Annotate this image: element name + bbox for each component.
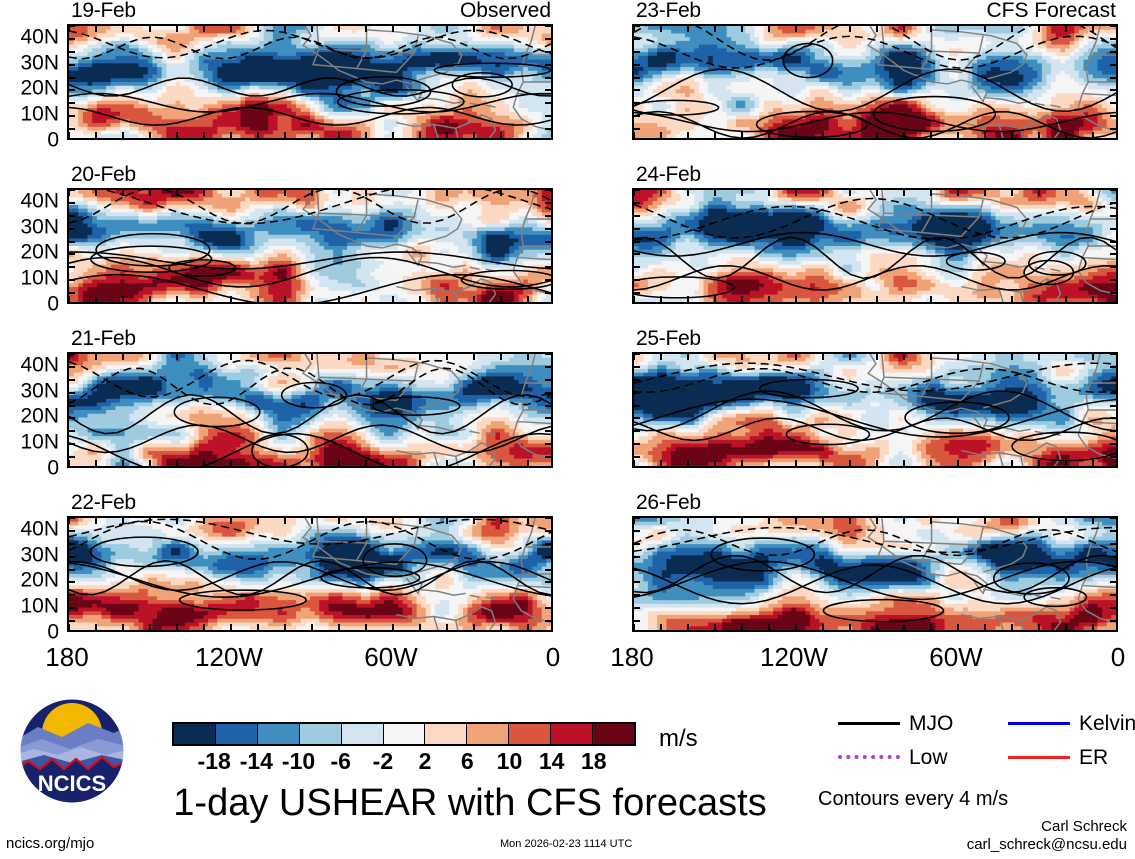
x-tick-mark [500, 26, 502, 32]
y-tick-mark [69, 64, 75, 66]
x-tick-mark [957, 354, 959, 360]
x-tick-mark [741, 132, 743, 138]
y-tick-mark [634, 266, 640, 268]
y-tick-mark [1110, 530, 1116, 532]
map-panel-19-feb: 19-FebObserved40N30N20N10N0 [67, 24, 553, 140]
colorbar-segment-9 [551, 724, 593, 744]
x-tick-mark [365, 460, 367, 466]
x-tick-mark [687, 296, 689, 302]
x-tick-mark [419, 132, 421, 138]
ushear-shading [69, 190, 551, 302]
x-tick-mark [257, 460, 259, 466]
y-tick-20n: 20N [20, 242, 59, 263]
x-tick-mark [984, 518, 986, 524]
x-tick-mark [849, 624, 851, 630]
x-tick-mark [446, 354, 448, 360]
y-tick-mark [545, 189, 551, 191]
colorbar-segment-3 [300, 724, 342, 744]
y-tick-mark [69, 102, 75, 104]
x-tick-0: 0 [1111, 642, 1125, 672]
x-tick-mark [984, 624, 986, 630]
y-tick-mark [545, 202, 551, 204]
x-tick-mark [1011, 26, 1013, 32]
x-tick-mark [392, 132, 394, 138]
x-tick-mark [338, 190, 340, 196]
y-tick-mark [634, 241, 640, 243]
x-tick-mark [1038, 190, 1040, 196]
x-tick-mark [984, 296, 986, 302]
legend-line-swatch [838, 722, 900, 725]
panel-date-label: 22-Feb [71, 492, 136, 513]
x-tick-mark [660, 190, 662, 196]
x-tick-mark [1038, 354, 1040, 360]
legend-label: ER [1079, 747, 1108, 768]
x-tick-mark [446, 624, 448, 630]
x-tick-mark [338, 132, 340, 138]
y-tick-mark [69, 417, 75, 419]
y-tick-mark [634, 569, 640, 571]
y-tick-mark [69, 77, 75, 79]
x-tick-mark [741, 354, 743, 360]
ushear-shading [634, 518, 1116, 630]
y-tick-mark [545, 581, 551, 583]
x-tick-mark [230, 26, 232, 32]
x-tick-mark [957, 460, 959, 466]
x-tick-mark [446, 190, 448, 196]
y-tick-mark [69, 228, 75, 230]
x-tick-mark [176, 354, 178, 360]
y-axis-labels: 40N30N20N10N0 [1, 516, 67, 632]
y-tick-mark [69, 25, 75, 27]
y-tick-mark [69, 241, 75, 243]
y-tick-40n: 40N [20, 26, 59, 47]
x-tick-mark [822, 518, 824, 524]
x-tick-mark [957, 296, 959, 302]
x-tick-mark [903, 624, 905, 630]
y-tick-mark [545, 607, 551, 609]
x-tick-mark [903, 460, 905, 466]
x-tick-mark [1092, 624, 1094, 630]
x-tick-mark [660, 296, 662, 302]
y-tick-mark [634, 517, 640, 519]
x-tick-mark [660, 518, 662, 524]
x-tick-mark [95, 460, 97, 466]
x-tick-mark [1092, 460, 1094, 466]
x-tick-mark [687, 624, 689, 630]
y-tick-mark [1110, 102, 1116, 104]
x-tick-mark [930, 190, 932, 196]
y-tick-mark [634, 543, 640, 545]
ncics-logo: NCICS [18, 697, 126, 805]
x-tick-mark [95, 132, 97, 138]
y-tick-mark [545, 430, 551, 432]
shaded-field-map [632, 24, 1118, 140]
colorbar-segment-2 [258, 724, 300, 744]
y-tick-mark [545, 25, 551, 27]
x-axis-labels: 180120W60W0 [67, 642, 553, 676]
legend-item-low: Low [838, 746, 948, 768]
x-tick-mark [149, 518, 151, 524]
colorbar-tick-label: 18 [581, 748, 607, 774]
x-tick-mark [203, 296, 205, 302]
x-tick-mark [633, 296, 635, 302]
x-tick-mark [284, 354, 286, 360]
shaded-field-map [632, 188, 1118, 304]
y-tick-mark [1110, 443, 1116, 445]
x-tick-mark [122, 624, 124, 630]
x-tick-mark [284, 460, 286, 466]
y-tick-mark [69, 202, 75, 204]
x-tick-mark [473, 190, 475, 196]
y-tick-mark [69, 405, 75, 407]
y-tick-30n: 30N [20, 52, 59, 73]
x-tick-mark [1065, 624, 1067, 630]
y-tick-mark [1110, 594, 1116, 596]
x-tick-mark [984, 26, 986, 32]
x-tick-mark [1011, 296, 1013, 302]
colorbar-segment-1 [216, 724, 258, 744]
x-tick-mark [930, 296, 932, 302]
y-tick-mark [1110, 292, 1116, 294]
wave-legend: MJOKelvin x2LowER [838, 712, 1128, 774]
figure-title: 1-day USHEAR with CFS forecasts [150, 782, 790, 824]
colorbar-segment-0 [174, 724, 216, 744]
y-tick-mark [545, 569, 551, 571]
y-tick-mark [1110, 266, 1116, 268]
x-tick-mark [392, 624, 394, 630]
x-tick-mark [95, 190, 97, 196]
panel-date-label: 26-Feb [636, 492, 701, 513]
x-tick-mark [473, 460, 475, 466]
colorbar-tick-label: 2 [419, 748, 432, 774]
x-tick-mark [849, 132, 851, 138]
x-tick-mark [230, 460, 232, 466]
x-tick-mark [95, 354, 97, 360]
y-tick-mark [69, 556, 75, 558]
panel-date-label: 20-Feb [71, 164, 136, 185]
x-tick-mark [930, 26, 932, 32]
y-tick-mark [69, 530, 75, 532]
x-tick-mark [1065, 518, 1067, 524]
y-tick-mark [1110, 115, 1116, 117]
x-tick-mark [149, 460, 151, 466]
panel-date-label: 24-Feb [636, 164, 701, 185]
ushear-shading [69, 354, 551, 466]
x-tick-mark [714, 190, 716, 196]
x-tick-mark [176, 624, 178, 630]
x-tick-mark [822, 296, 824, 302]
x-tick-mark [660, 132, 662, 138]
ncics-site-link[interactable]: ncics.org/mjo [6, 835, 94, 852]
legend-item-er: ER [1008, 746, 1108, 768]
y-tick-mark [545, 443, 551, 445]
x-tick-mark [1038, 296, 1040, 302]
x-tick-60w: 60W [364, 642, 417, 672]
x-tick-mark [876, 26, 878, 32]
map-panel-24-feb: 24-Feb [632, 188, 1118, 304]
x-tick-mark [795, 190, 797, 196]
x-tick-mark [365, 624, 367, 630]
y-tick-40n: 40N [20, 190, 59, 211]
y-tick-mark [634, 202, 640, 204]
x-tick-mark [203, 26, 205, 32]
y-tick-mark [634, 556, 640, 558]
x-tick-mark [1038, 460, 1040, 466]
x-tick-mark [876, 296, 878, 302]
y-tick-mark [634, 456, 640, 458]
legend-line-swatch [838, 755, 900, 759]
x-tick-mark [1092, 26, 1094, 32]
colorbar-tick-label: -2 [373, 748, 393, 774]
y-tick-mark [634, 51, 640, 53]
y-tick-10n: 10N [20, 596, 59, 617]
legend-label: MJO [909, 713, 953, 734]
map-panel-23-feb: 23-FebCFS Forecast [632, 24, 1118, 140]
x-tick-mark [149, 296, 151, 302]
x-tick-mark [284, 518, 286, 524]
x-tick-mark [741, 190, 743, 196]
x-tick-mark [500, 190, 502, 196]
y-tick-mark [634, 102, 640, 104]
y-tick-mark [545, 89, 551, 91]
x-tick-mark [1065, 354, 1067, 360]
y-tick-mark [1110, 366, 1116, 368]
x-tick-mark [311, 26, 313, 32]
x-tick-mark [930, 132, 932, 138]
x-tick-mark [849, 518, 851, 524]
y-tick-mark [634, 215, 640, 217]
x-tick-mark [633, 132, 635, 138]
colorbar-segment-8 [509, 724, 551, 744]
y-tick-mark [1110, 89, 1116, 91]
x-tick-mark [446, 132, 448, 138]
x-tick-mark [1038, 518, 1040, 524]
x-tick-mark [176, 26, 178, 32]
x-tick-mark [714, 26, 716, 32]
y-tick-40n: 40N [20, 354, 59, 375]
x-tick-mark [392, 190, 394, 196]
x-tick-mark [473, 354, 475, 360]
x-tick-mark [419, 460, 421, 466]
x-tick-mark [633, 460, 635, 466]
x-tick-180: 180 [45, 642, 88, 672]
map-panel-22-feb: 22-Feb40N30N20N10N0180120W60W0 [67, 516, 553, 632]
x-tick-mark [446, 518, 448, 524]
x-tick-mark [311, 296, 313, 302]
x-tick-mark [149, 26, 151, 32]
x-tick-mark [338, 354, 340, 360]
panel-date-label: 19-Feb [71, 0, 136, 21]
y-tick-mark [545, 417, 551, 419]
x-tick-mark [822, 132, 824, 138]
y-tick-mark [69, 189, 75, 191]
y-tick-mark [545, 253, 551, 255]
y-tick-0: 0 [47, 294, 59, 315]
x-tick-mark [527, 354, 529, 360]
y-tick-20n: 20N [20, 78, 59, 99]
x-tick-mark [230, 624, 232, 630]
x-tick-mark [338, 26, 340, 32]
column-header-forecast: CFS Forecast [986, 0, 1116, 21]
y-tick-20n: 20N [20, 570, 59, 591]
y-tick-mark [545, 279, 551, 281]
ushear-shading [634, 26, 1116, 138]
x-tick-mark [687, 132, 689, 138]
colorbar-ticklabels: -18-14-10-6-226101418 [172, 748, 636, 776]
column-header-observed: Observed [460, 0, 551, 21]
x-tick-mark [419, 26, 421, 32]
y-tick-mark [1110, 25, 1116, 27]
x-tick-mark [473, 518, 475, 524]
legend-line-swatch [1008, 756, 1070, 759]
x-tick-mark [473, 26, 475, 32]
x-tick-mark [527, 624, 529, 630]
x-tick-mark [500, 624, 502, 630]
x-tick-mark [768, 132, 770, 138]
y-tick-mark [634, 38, 640, 40]
y-tick-mark [634, 292, 640, 294]
y-tick-mark [545, 543, 551, 545]
x-tick-mark [122, 132, 124, 138]
y-tick-mark [545, 102, 551, 104]
x-tick-mark [1011, 624, 1013, 630]
x-tick-mark [284, 624, 286, 630]
y-tick-mark [545, 556, 551, 558]
x-tick-mark [527, 190, 529, 196]
colorbar-tick-label: 14 [539, 748, 565, 774]
x-tick-mark [176, 296, 178, 302]
x-tick-mark [957, 26, 959, 32]
colorbar-tick-label: -14 [240, 748, 273, 774]
y-tick-mark [1110, 456, 1116, 458]
colorbar-segment-10 [593, 724, 634, 744]
x-tick-mark [1092, 296, 1094, 302]
x-tick-mark [741, 624, 743, 630]
shaded-field-map [67, 352, 553, 468]
y-tick-20n: 20N [20, 406, 59, 427]
x-tick-mark [1092, 354, 1094, 360]
panel-date-label: 23-Feb [636, 0, 701, 21]
panel-date-label: 21-Feb [71, 328, 136, 349]
x-tick-mark [95, 26, 97, 32]
y-tick-mark [1110, 379, 1116, 381]
x-tick-mark [741, 518, 743, 524]
x-tick-mark [1011, 518, 1013, 524]
map-panel-20-feb: 20-Feb40N30N20N10N0 [67, 188, 553, 304]
y-tick-mark [545, 292, 551, 294]
x-tick-mark [714, 624, 716, 630]
y-tick-10n: 10N [20, 432, 59, 453]
x-tick-mark [849, 354, 851, 360]
x-tick-mark [68, 132, 70, 138]
x-tick-mark [768, 460, 770, 466]
y-tick-mark [1110, 279, 1116, 281]
colorbar-segment-7 [467, 724, 509, 744]
y-tick-mark [634, 405, 640, 407]
y-tick-mark [545, 115, 551, 117]
y-tick-mark [545, 353, 551, 355]
y-tick-mark [69, 620, 75, 622]
x-tick-mark [957, 132, 959, 138]
y-tick-mark [634, 366, 640, 368]
x-tick-mark [795, 26, 797, 32]
x-tick-mark [930, 460, 932, 466]
shaded-field-map [67, 516, 553, 632]
y-tick-30n: 30N [20, 380, 59, 401]
x-tick-mark [419, 296, 421, 302]
y-tick-mark [634, 228, 640, 230]
x-tick-mark [957, 518, 959, 524]
x-tick-mark [768, 624, 770, 630]
x-tick-mark [660, 354, 662, 360]
y-tick-mark [1110, 405, 1116, 407]
x-tick-mark [660, 26, 662, 32]
x-tick-mark [930, 354, 932, 360]
y-tick-mark [69, 594, 75, 596]
y-tick-mark [634, 417, 640, 419]
x-tick-mark [419, 354, 421, 360]
x-tick-mark [741, 460, 743, 466]
x-tick-mark [365, 354, 367, 360]
x-tick-mark [822, 354, 824, 360]
y-tick-mark [1110, 38, 1116, 40]
y-axis-labels: 40N30N20N10N0 [1, 352, 67, 468]
x-tick-mark [149, 132, 151, 138]
x-tick-mark [176, 460, 178, 466]
y-tick-30n: 30N [20, 544, 59, 565]
y-tick-mark [634, 430, 640, 432]
y-tick-mark [634, 115, 640, 117]
colorbar [172, 722, 636, 746]
x-tick-mark [903, 190, 905, 196]
y-tick-mark [1110, 189, 1116, 191]
y-tick-0: 0 [47, 458, 59, 479]
colorbar-tick-label: -6 [330, 748, 350, 774]
y-tick-mark [634, 594, 640, 596]
x-tick-mark [446, 296, 448, 302]
y-tick-mark [1110, 253, 1116, 255]
x-tick-mark [392, 296, 394, 302]
colorbar-segment-5 [384, 724, 426, 744]
x-tick-mark [392, 354, 394, 360]
y-tick-mark [1110, 202, 1116, 204]
x-tick-mark [1038, 624, 1040, 630]
colorbar-tick-label: -18 [198, 748, 231, 774]
x-tick-mark [284, 190, 286, 196]
y-tick-mark [1110, 607, 1116, 609]
x-tick-mark [311, 624, 313, 630]
x-tick-mark [527, 132, 529, 138]
x-tick-mark [687, 518, 689, 524]
y-tick-mark [69, 392, 75, 394]
x-tick-mark [365, 190, 367, 196]
x-tick-mark [741, 26, 743, 32]
x-tick-mark [257, 354, 259, 360]
x-tick-mark [876, 354, 878, 360]
x-tick-mark [1038, 26, 1040, 32]
y-tick-mark [634, 89, 640, 91]
x-tick-mark [446, 26, 448, 32]
author-email: carl_schreck@ncsu.edu [967, 836, 1127, 853]
y-tick-mark [545, 266, 551, 268]
x-tick-mark [230, 296, 232, 302]
y-tick-mark [634, 25, 640, 27]
x-tick-mark [68, 624, 70, 630]
x-tick-120w: 120W [195, 642, 263, 672]
y-tick-mark [69, 517, 75, 519]
y-tick-mark [634, 443, 640, 445]
x-tick-mark [1092, 190, 1094, 196]
